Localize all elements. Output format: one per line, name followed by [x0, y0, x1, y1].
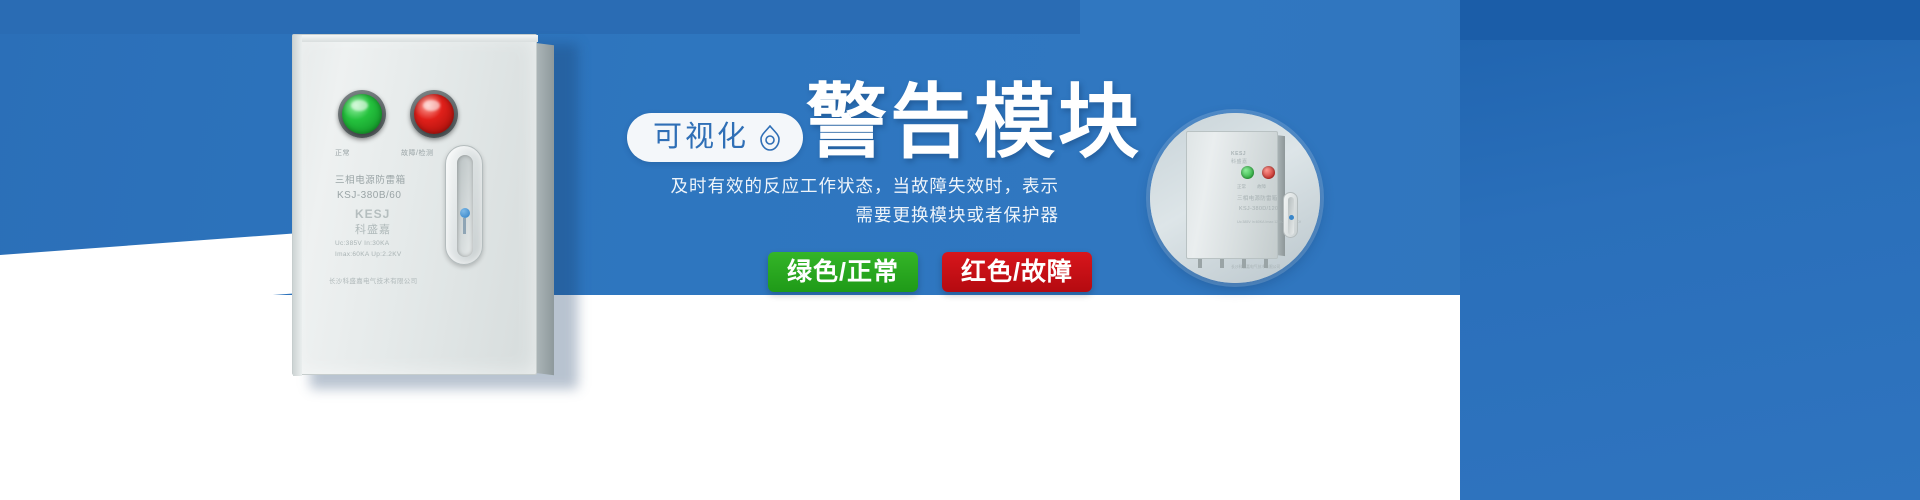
product-photo-circle-inset: KESJ 科盛嘉 正常 故障 三相电源防雷箱 KSJ-380D/120 Uc:3… [1150, 113, 1320, 283]
cabinet-brand-logo: KESJ [355, 207, 390, 221]
banner-headline: 警告模块 [806, 83, 1142, 164]
inset-model-number: KSJ-380D/120 [1239, 206, 1278, 212]
banner-subtitle: 及时有效的反应工作状态，当故障失效时，表示 需要更换模块或者保护器 [539, 172, 1059, 230]
location-diamond-icon [759, 125, 781, 151]
inset-handle-lock-dot [1289, 215, 1294, 220]
inset-label-fault: 故障 [1257, 184, 1266, 190]
promo-banner: 正常 故障/检测 三相电源防雷箱 KSJ-380B/60 KESJ 科盛嘉 Uc… [0, 0, 1920, 500]
visualization-pill-label: 可视化 [653, 123, 749, 152]
subtitle-line-1: 及时有效的反应工作状态，当故障失效时，表示 [539, 172, 1059, 201]
inset-indicator-lamp-green [1241, 166, 1254, 179]
inset-cabinet-foot [1198, 259, 1202, 268]
status-badge-red[interactable]: 红色/故障 [942, 252, 1092, 292]
indicator-lamp-red [414, 94, 454, 134]
cabinet-label-fault: 故障/检测 [401, 148, 433, 158]
inset-cabinet-foot [1264, 259, 1268, 268]
subtitle-line-2: 需要更换模块或者保护器 [539, 201, 1059, 230]
handle-lock-dot [460, 208, 470, 218]
cabinet-brand-name-cn: 科盛嘉 [355, 221, 391, 237]
inset-door-handle [1283, 192, 1298, 238]
banner-background-top-band [0, 0, 1080, 34]
indicator-lamp-green [342, 94, 382, 134]
inset-product-title: 三相电源防雷箱 [1237, 194, 1278, 202]
inset-cabinet-foot [1242, 259, 1246, 268]
cabinet-company-name: 长沙科盛嘉电气技术有限公司 [329, 275, 417, 285]
cabinet-top-edge [293, 35, 538, 42]
cabinet-label-normal: 正常 [335, 148, 350, 158]
inset-brand-logo: KESJ [1231, 151, 1246, 157]
status-badge-green[interactable]: 绿色/正常 [768, 252, 918, 292]
cabinet-spec-line-2: Imax:60KA Up:2.2KV [335, 251, 401, 258]
inset-cabinet-foot [1220, 259, 1224, 268]
handle-keyway [463, 218, 466, 234]
visualization-pill-badge: 可视化 [627, 113, 803, 162]
banner-background-right-top-strip [1460, 0, 1920, 40]
cabinet-spec-line-1: Uc:385V In:30KA [335, 240, 389, 247]
inset-cabinet-front: KESJ 科盛嘉 正常 故障 三相电源防雷箱 KSJ-380D/120 Uc:3… [1186, 131, 1278, 259]
indicator-lamp-red-bezel [410, 90, 458, 138]
lamp-gloss-highlight [423, 100, 440, 111]
cabinet-front-panel: 正常 故障/检测 三相电源防雷箱 KSJ-380B/60 KESJ 科盛嘉 Uc… [292, 34, 537, 375]
banner-background-white [0, 295, 1460, 500]
lamp-gloss-highlight [351, 100, 368, 111]
inset-brand-name-cn: 科盛嘉 [1231, 158, 1248, 165]
banner-background-right-panel [1460, 0, 1920, 500]
cabinet-product-title: 三相电源防雷箱 [335, 172, 406, 186]
cabinet-model-number: KSJ-380B/60 [337, 190, 401, 201]
inset-indicator-lamp-red [1262, 166, 1275, 179]
status-badge-group: 绿色/正常 红色/故障 [768, 252, 1092, 292]
cabinet-left-edge [293, 35, 302, 376]
indicator-lamp-green-bezel [338, 90, 386, 138]
cabinet-door-handle [445, 145, 483, 265]
inset-company-name: 长沙科盛嘉电气技术有限公司 [1231, 265, 1280, 270]
handle-slot [457, 155, 473, 257]
product-photo-cabinet: 正常 故障/检测 三相电源防雷箱 KSJ-380B/60 KESJ 科盛嘉 Uc… [292, 34, 560, 379]
inset-label-normal: 正常 [1237, 184, 1246, 190]
